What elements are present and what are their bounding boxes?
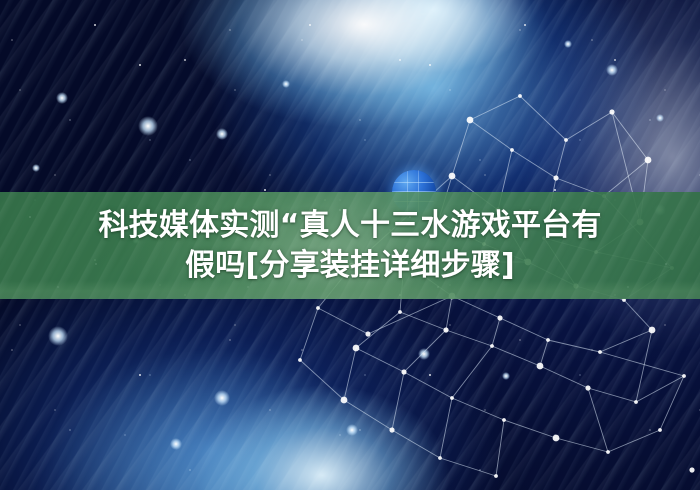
bright-star xyxy=(32,164,40,172)
headline-line-1: 科技媒体实测“真人十三水游戏平台有 xyxy=(98,206,601,245)
bright-star xyxy=(216,128,228,140)
bright-star xyxy=(214,390,230,406)
bright-star xyxy=(606,64,618,76)
bright-star xyxy=(170,438,182,450)
bright-star xyxy=(564,40,572,48)
bright-star xyxy=(282,80,290,88)
headline-block: 科技媒体实测“真人十三水游戏平台有 假吗[分享装挂详细步骤] xyxy=(0,192,700,299)
bright-star xyxy=(138,116,158,136)
bright-star xyxy=(346,424,358,436)
article-cover-banner: 科技媒体实测“真人十三水游戏平台有 假吗[分享装挂详细步骤] xyxy=(0,0,700,490)
bright-star xyxy=(656,114,664,122)
bright-star xyxy=(502,372,510,380)
bright-star xyxy=(48,326,68,346)
bright-star xyxy=(56,92,68,104)
bright-star xyxy=(418,348,430,360)
headline-line-2: 假吗[分享装挂详细步骤] xyxy=(185,246,515,285)
